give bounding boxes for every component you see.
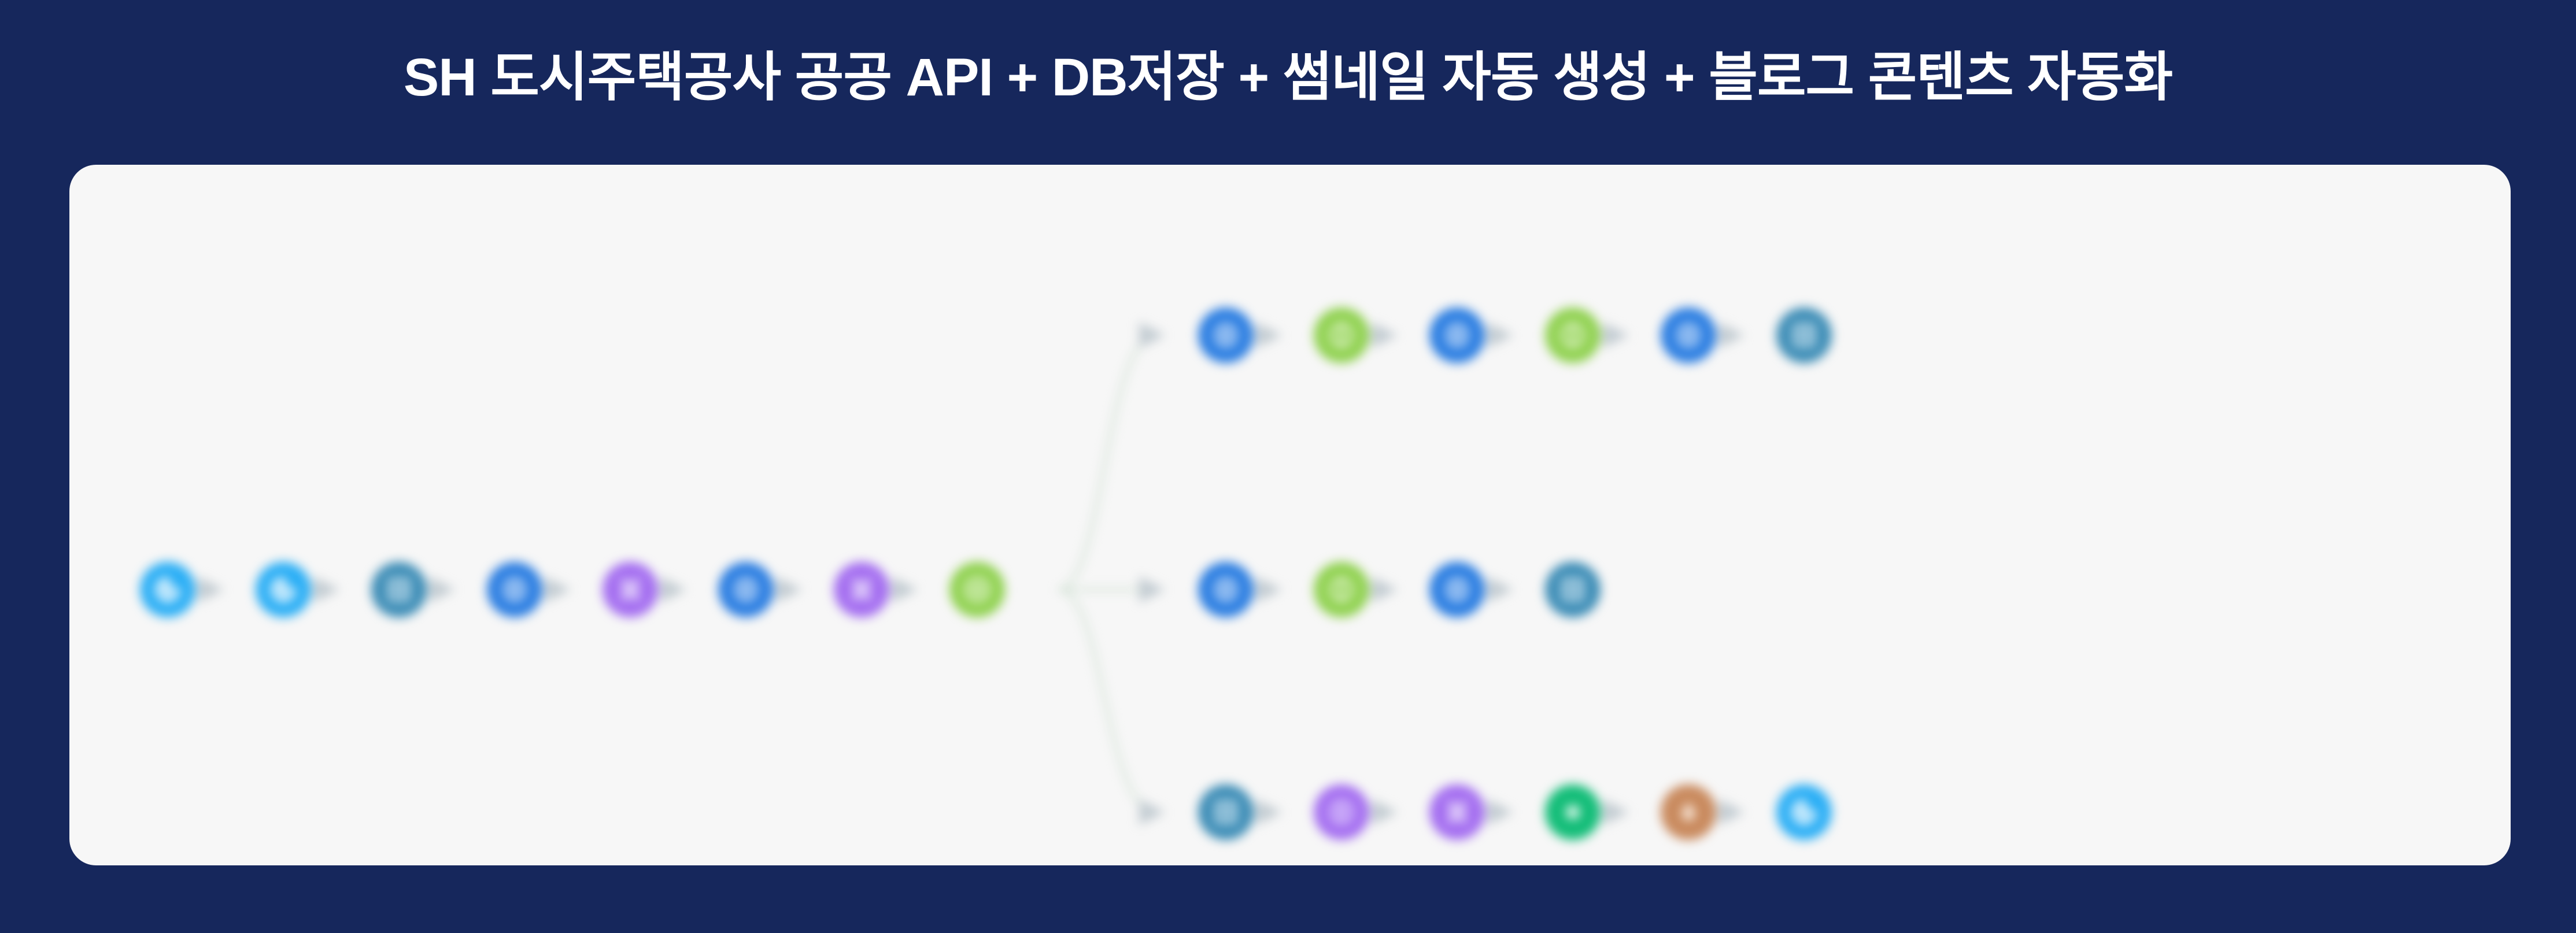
database-icon xyxy=(1788,320,1820,351)
globe-icon xyxy=(1442,320,1473,351)
workflow-node-main-2[interactable] xyxy=(256,562,311,617)
workflow-node-bottom-3[interactable] xyxy=(1429,784,1485,840)
workflow-node-middle-1[interactable] xyxy=(1198,562,1254,617)
database-icon xyxy=(1210,797,1241,828)
globe-icon xyxy=(1210,320,1241,351)
workflow-node-top-3[interactable] xyxy=(1429,308,1485,363)
database-icon xyxy=(1557,574,1588,605)
filter-icon xyxy=(1326,574,1357,605)
flame-icon xyxy=(1673,797,1704,828)
code-branch-icon xyxy=(615,574,646,605)
workflow-node-bottom-5[interactable] xyxy=(1661,784,1716,840)
workflow-diagram xyxy=(69,165,2511,865)
globe-icon xyxy=(1442,574,1473,605)
workflow-node-top-4[interactable] xyxy=(1545,308,1601,363)
globe-icon xyxy=(730,574,762,605)
upload-arrow-icon xyxy=(152,574,183,605)
globe-icon xyxy=(1673,320,1704,351)
workflow-node-bottom-1[interactable] xyxy=(1198,784,1254,840)
workflow-node-main-1[interactable] xyxy=(140,562,195,617)
workflow-node-main-7[interactable] xyxy=(834,562,889,617)
circle-solid-icon xyxy=(1557,797,1588,828)
edge-layer xyxy=(69,165,2511,865)
workflow-canvas-card[interactable] xyxy=(69,165,2511,865)
workflow-node-top-5[interactable] xyxy=(1661,308,1716,363)
workflow-node-top-6[interactable] xyxy=(1776,308,1832,363)
filter-icon xyxy=(1326,320,1357,351)
upload-arrow-icon xyxy=(268,574,299,605)
pause-icon xyxy=(1326,797,1357,828)
workflow-node-main-6[interactable] xyxy=(718,562,774,617)
code-branch-icon xyxy=(846,574,877,605)
workflow-node-bottom-2[interactable] xyxy=(1314,784,1369,840)
database-icon xyxy=(383,574,415,605)
workflow-node-main-4[interactable] xyxy=(487,562,542,617)
workflow-node-middle-2[interactable] xyxy=(1314,562,1369,617)
workflow-node-middle-3[interactable] xyxy=(1429,562,1485,617)
globe-icon xyxy=(1210,574,1241,605)
upload-arrow-icon xyxy=(1788,797,1820,828)
workflow-node-main-3[interactable] xyxy=(371,562,427,617)
split-branch-edges xyxy=(1058,335,1156,812)
globe-icon xyxy=(499,574,530,605)
page-title: SH 도시주택공사 공공 API + DB저장 + 썸네일 자동 생성 + 블로… xyxy=(0,49,2576,107)
split-out-icon xyxy=(962,574,993,605)
filter-icon xyxy=(1557,320,1588,351)
workflow-node-main-8[interactable] xyxy=(949,562,1005,617)
workflow-node-main-5[interactable] xyxy=(603,562,658,617)
workflow-node-bottom-6[interactable] xyxy=(1776,784,1832,840)
code-branch-icon xyxy=(1442,797,1473,828)
workflow-node-middle-4[interactable] xyxy=(1545,562,1601,617)
workflow-node-top-2[interactable] xyxy=(1314,308,1369,363)
workflow-node-top-1[interactable] xyxy=(1198,308,1254,363)
workflow-node-bottom-4[interactable] xyxy=(1545,784,1601,840)
